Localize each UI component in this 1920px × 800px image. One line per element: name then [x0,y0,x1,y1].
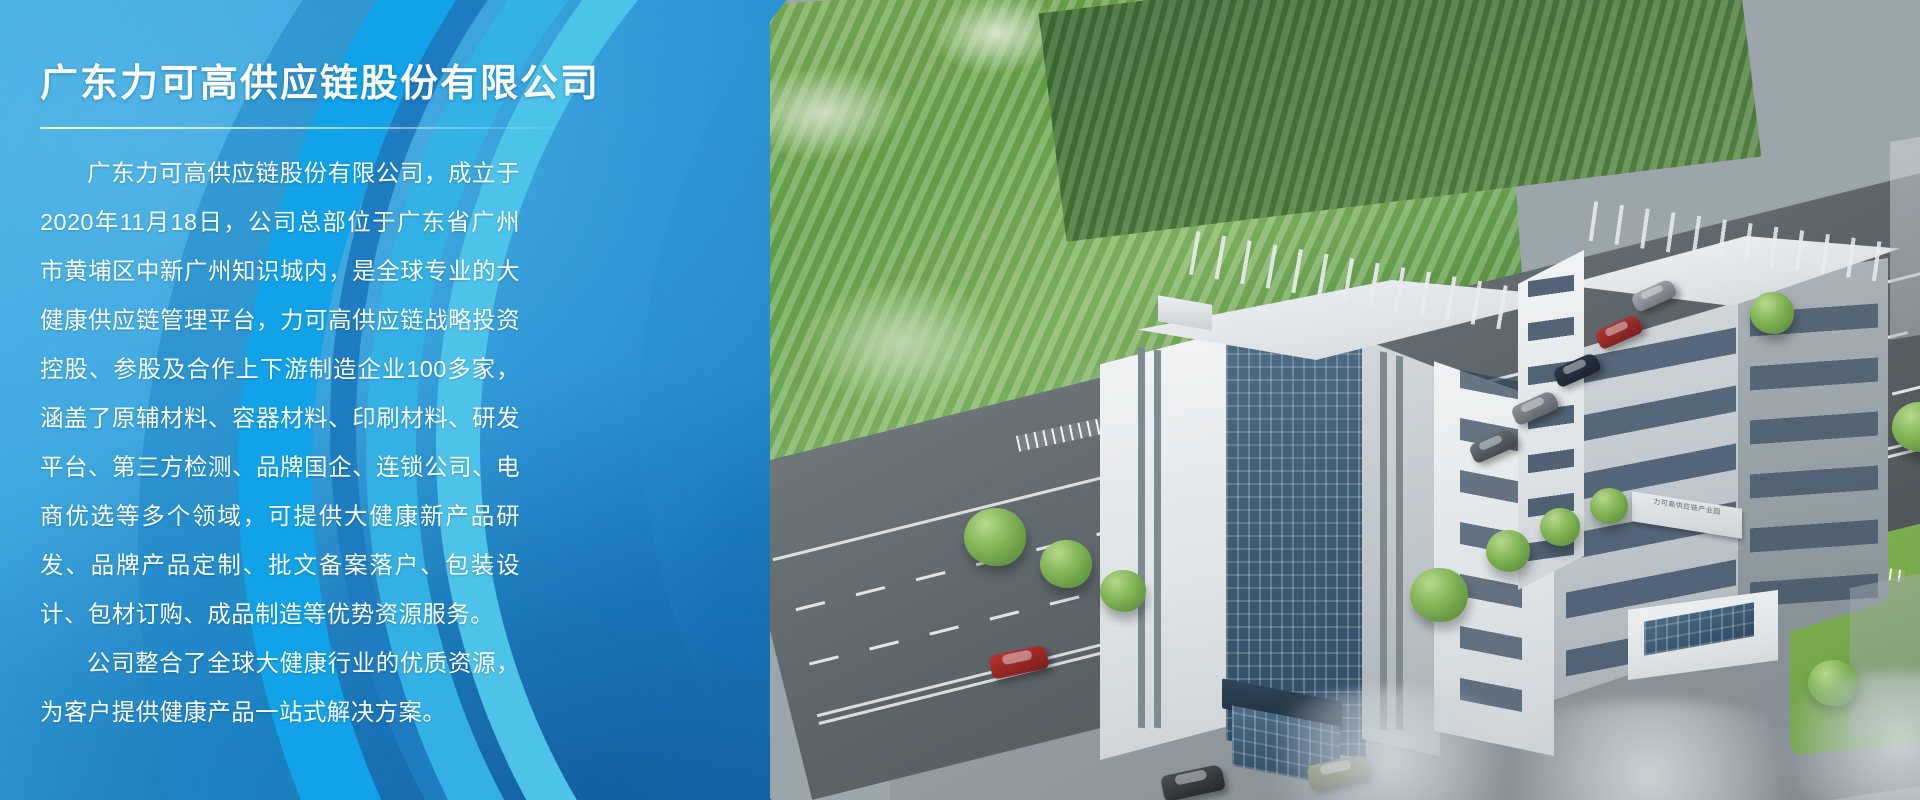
description-paragraph-2: 公司整合了全球大健康行业的优质资源，为客户提供健康产品一站式解决方案。 [40,639,520,737]
title-underline [40,127,570,129]
tree-8 [1750,292,1794,334]
building-main-mullion-right [1380,352,1387,731]
rendering-scene: 力可高供应链产业园 [770,0,1920,800]
company-description: 广东力可高供应链股份有限公司，成立于2020年11月18日，公司总部位于广东省广… [40,149,520,737]
description-paragraph-1: 广东力可高供应链股份有限公司，成立于2020年11月18日，公司总部位于广东省广… [40,149,520,639]
tree-5 [1486,530,1530,572]
building-main-mullion-right-2 [1396,356,1403,731]
tree-1 [964,508,1026,566]
tree-3 [1100,570,1146,612]
facility-photo-inner: 力可高供应链产业园 [770,0,1920,800]
tree-4 [1410,568,1468,622]
background-block-a [1890,120,1920,340]
facility-photo: 力可高供应链产业园 [640,0,1920,800]
building-main-mullion-left [1138,348,1145,729]
banner-canvas: 力可高供应链产业园 [0,0,1920,800]
building-main-front-face [1100,330,1230,760]
tree-7 [1590,488,1628,524]
tree-2 [1040,540,1092,588]
page-title: 广东力可高供应链股份有限公司 [40,0,560,107]
building-main-mullion-left-2 [1154,350,1161,729]
intro-text-column: 广东力可高供应链股份有限公司 广东力可高供应链股份有限公司，成立于2020年11… [0,0,600,800]
tree-6 [1540,508,1580,546]
